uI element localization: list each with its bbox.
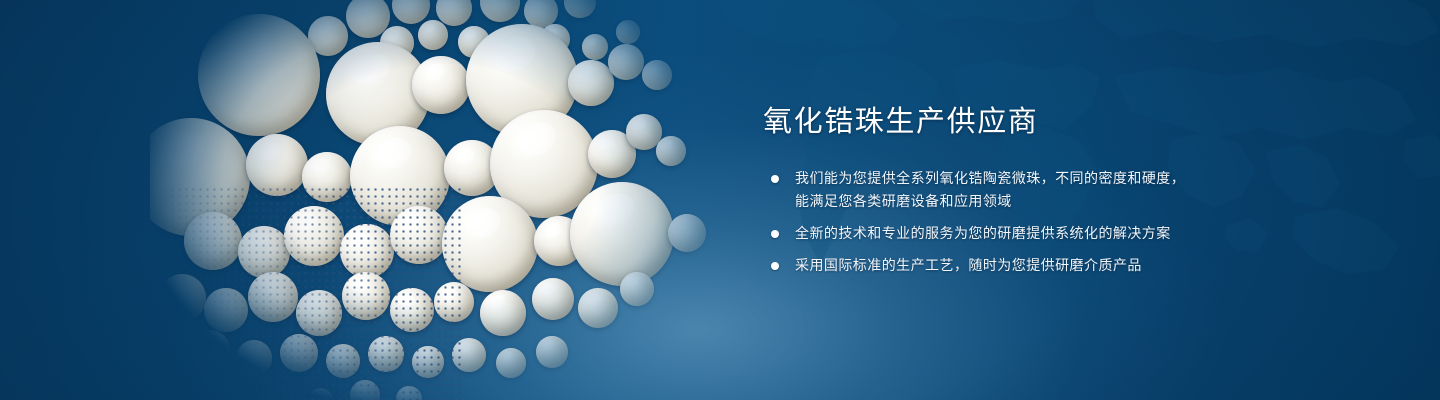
bullet-dot-icon xyxy=(771,230,779,238)
bullet-dot-icon xyxy=(771,175,779,183)
list-item-line: 能满足您各类研磨设备和应用领域 xyxy=(795,190,1383,213)
list-item: 我们能为您提供全系列氧化锆陶瓷微珠，不同的密度和硬度， 能满足您各类研磨设备和应… xyxy=(763,167,1383,213)
list-item-line: 全新的技术和专业的服务为您的研磨提供系统化的解决方案 xyxy=(795,222,1383,245)
hero-banner: 氧化锆珠生产供应商 我们能为您提供全系列氧化锆陶瓷微珠，不同的密度和硬度， 能满… xyxy=(0,0,1440,400)
list-item: 采用国际标准的生产工艺，随时为您提供研磨介质产品 xyxy=(763,254,1383,277)
list-item: 全新的技术和专业的服务为您的研磨提供系统化的解决方案 xyxy=(763,222,1383,245)
list-item-line: 采用国际标准的生产工艺，随时为您提供研磨介质产品 xyxy=(795,254,1383,277)
page-title: 氧化锆珠生产供应商 xyxy=(763,104,1383,141)
banner-content: 氧化锆珠生产供应商 我们能为您提供全系列氧化锆陶瓷微珠，不同的密度和硬度， 能满… xyxy=(763,104,1383,277)
feature-list: 我们能为您提供全系列氧化锆陶瓷微珠，不同的密度和硬度， 能满足您各类研磨设备和应… xyxy=(763,167,1383,277)
bullet-dot-icon xyxy=(771,262,779,270)
list-item-line: 我们能为您提供全系列氧化锆陶瓷微珠，不同的密度和硬度， xyxy=(795,167,1383,190)
